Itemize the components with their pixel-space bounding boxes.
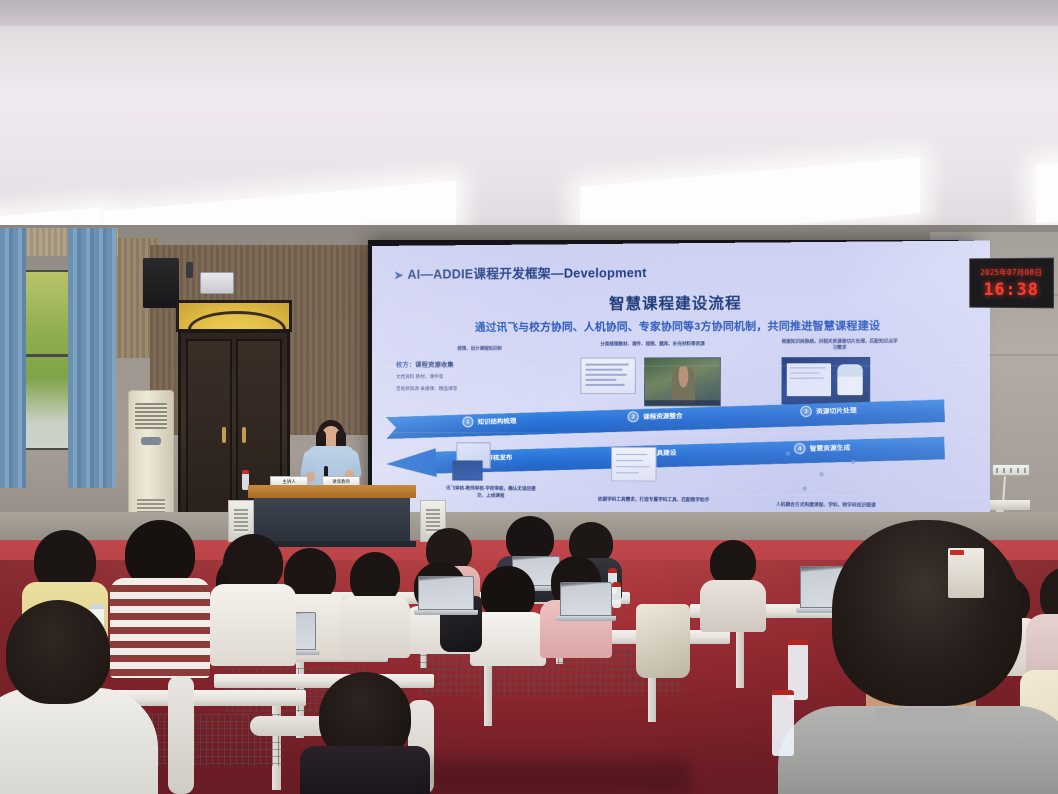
laptop-keyboard[interactable] bbox=[414, 610, 478, 615]
person-torso bbox=[300, 746, 430, 794]
flow-step: 3 资源切片处理 bbox=[800, 404, 857, 417]
slide-subtitle: 通过讯飞与校方协同、人机协同、专家协同等3方协同机制，共同推进智慧课程建设 bbox=[372, 317, 990, 335]
slide-left-block: 校方：课程资源收集 文档资料 教材、课件等 音视频资源 录播课、精品课等 bbox=[396, 360, 527, 393]
person-torso bbox=[0, 688, 158, 794]
slide-title: 智慧课程建设流程 bbox=[372, 290, 990, 315]
step-label: 知识结构梳理 bbox=[477, 416, 516, 426]
person-head bbox=[6, 600, 110, 704]
slide-decor-dot bbox=[803, 487, 807, 491]
person-torso bbox=[210, 584, 296, 666]
slide-thumbnail-app-ui bbox=[782, 357, 871, 404]
step-number: 4 bbox=[794, 443, 806, 455]
ac-vent-grille bbox=[135, 403, 167, 429]
slide-decor-dot bbox=[851, 460, 855, 464]
water-bottle bbox=[612, 582, 621, 608]
slide-decor-dot bbox=[786, 452, 790, 456]
floor-air-conditioner[interactable] bbox=[128, 390, 174, 530]
step-number: 2 bbox=[627, 411, 639, 423]
laptop[interactable] bbox=[418, 576, 474, 610]
lectern-top bbox=[248, 485, 416, 498]
slide-header-text: AI—ADDIE课程开发框架—Development bbox=[407, 266, 646, 282]
left-block-line: 文档资料 教材、课件等 bbox=[396, 373, 527, 381]
left-block-line: 音视频资源 录播课、精品课等 bbox=[396, 385, 527, 393]
lecture-hall-photo: ➤AI—ADDIE课程开发框架—Development 智慧课程建设流程 通过讯… bbox=[0, 0, 1058, 794]
lectern: 主讲人 讲席教师 bbox=[248, 485, 416, 541]
slide-thumbnail-document bbox=[580, 357, 636, 394]
video-progress-bar bbox=[645, 400, 720, 405]
flow-step: 4 智慧资源生成 bbox=[794, 441, 851, 454]
led-clock-date: 2025年07月08日 bbox=[980, 266, 1042, 277]
ac-bottom-vent bbox=[137, 499, 165, 513]
window-mullion bbox=[24, 354, 68, 357]
audience-member bbox=[340, 552, 410, 652]
wall-speaker bbox=[143, 258, 179, 308]
door-handle-icon bbox=[242, 427, 246, 443]
led-clock-time: 16:38 bbox=[984, 279, 1039, 299]
curtain[interactable] bbox=[0, 228, 26, 488]
ceiling-upper-edge bbox=[0, 0, 1058, 26]
ceiling-light bbox=[1036, 139, 1058, 223]
slide-annotation: 根据知识树脉络，对相关资源做切片处理，匹配知识点学习需求 bbox=[782, 338, 898, 351]
person-torso bbox=[700, 580, 766, 632]
slide-step-description: 人机耦合方式构建课程、学科、跨学科知识图谱 bbox=[769, 501, 883, 509]
wall-camera bbox=[186, 262, 193, 278]
video-figure bbox=[672, 367, 695, 404]
foreground-attendee bbox=[0, 600, 140, 794]
slide-annotation: 分类梳理教材、课件、视频、题库、补充材料等资源 bbox=[589, 341, 717, 348]
window bbox=[22, 270, 70, 450]
laptop-screen[interactable] bbox=[418, 576, 474, 610]
slide-header: ➤AI—ADDIE课程开发框架—Development bbox=[394, 262, 647, 283]
app-person-video bbox=[837, 364, 862, 395]
door-handle-icon bbox=[222, 427, 226, 443]
slide-annotation: 梳理、设计课程知识树 bbox=[424, 346, 535, 353]
door-transom-window bbox=[176, 300, 292, 332]
audience-member bbox=[210, 534, 296, 660]
handbag bbox=[636, 604, 690, 678]
flow-step: 1 知识结构梳理 bbox=[462, 415, 516, 428]
app-panel bbox=[787, 363, 831, 396]
laptop-screen[interactable] bbox=[560, 582, 612, 616]
step-label: 课程资源整合 bbox=[643, 411, 683, 421]
shirt-collar bbox=[874, 708, 970, 734]
led-clock: 2025年07月08日 16:38 bbox=[969, 258, 1054, 309]
wall-power-outlet[interactable] bbox=[992, 464, 1030, 476]
slide-bottom-thumbnail bbox=[611, 447, 656, 482]
ac-logo bbox=[141, 437, 161, 445]
flow-arrow-head-icon bbox=[386, 446, 437, 482]
step-label: 资源切片处理 bbox=[816, 405, 857, 416]
foreground-attendee bbox=[300, 672, 430, 794]
floor-shadow bbox=[430, 760, 690, 794]
slide-decor-dot bbox=[819, 472, 823, 476]
projection-screen[interactable]: ➤AI—ADDIE课程开发框架—Development 智慧课程建设流程 通过讯… bbox=[372, 240, 990, 539]
wall-control-box[interactable] bbox=[200, 272, 234, 294]
laptop[interactable] bbox=[560, 582, 612, 616]
person-torso bbox=[340, 596, 410, 658]
laptop-keyboard[interactable] bbox=[556, 616, 616, 621]
slide-bottom-thumbnail bbox=[452, 460, 482, 480]
step-number: 1 bbox=[462, 416, 473, 427]
curtain[interactable] bbox=[68, 228, 116, 488]
person-head bbox=[832, 520, 1022, 706]
door-leaf-left[interactable] bbox=[186, 339, 232, 521]
slide-step-description: 依据学科工具需求，打造专属学科工具、匹配教学助手 bbox=[593, 495, 715, 503]
chevron-right-icon: ➤ bbox=[394, 270, 403, 282]
ceiling bbox=[0, 0, 1058, 240]
water-bottle bbox=[772, 690, 794, 756]
audience-member bbox=[700, 540, 766, 626]
step-label: 智慧资源生成 bbox=[810, 443, 851, 453]
step-number: 3 bbox=[800, 406, 812, 418]
left-block-title: 校方：课程资源收集 bbox=[396, 360, 527, 369]
chair[interactable] bbox=[168, 676, 194, 794]
foreground-attendee bbox=[770, 520, 1058, 794]
flow-step: 2 课程资源整合 bbox=[627, 410, 682, 423]
beverage-carton bbox=[948, 548, 984, 598]
